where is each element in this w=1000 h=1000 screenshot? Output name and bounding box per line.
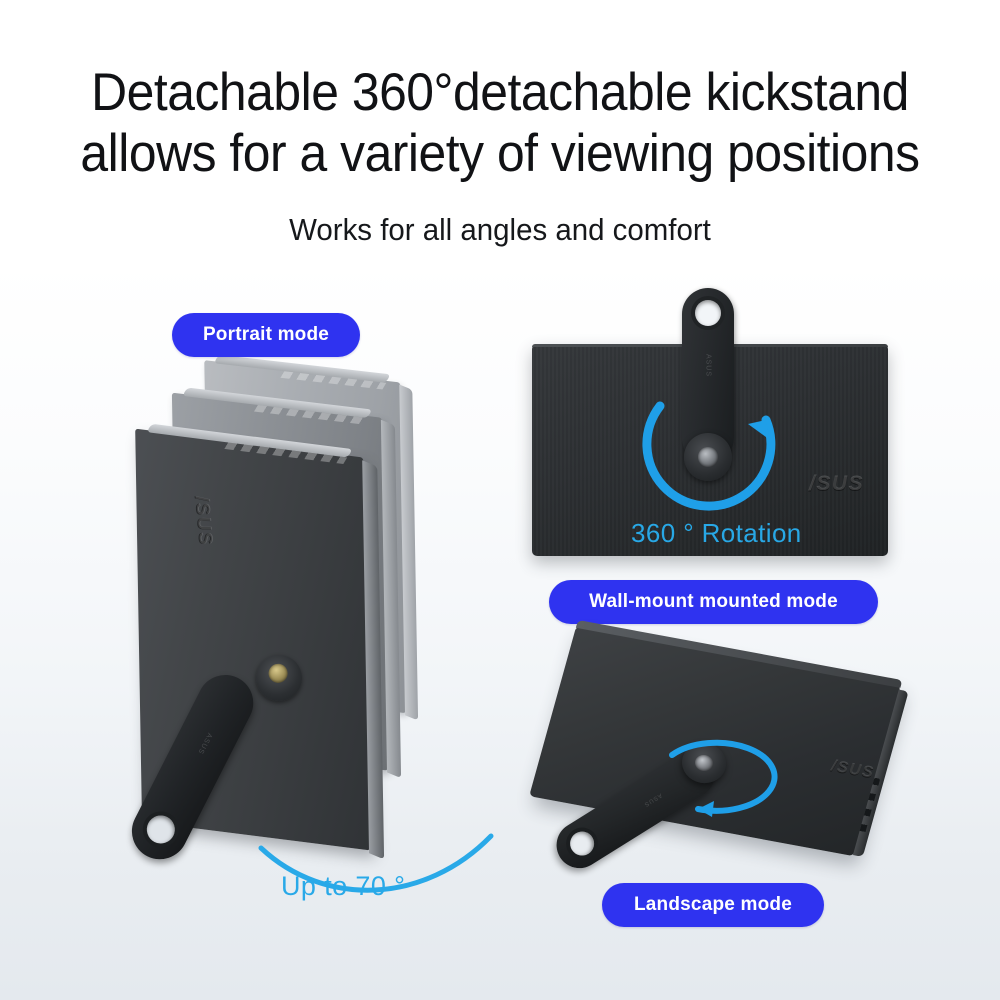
promo-image-canvas: Detachable 360°detachable kickstand allo… [0,0,1000,1000]
panel-side-edge [399,385,418,721]
kickstand-hole-icon [566,827,599,860]
portrait-mode-illustration: /SUS ASUS [60,360,490,900]
landscape-mode-illustration: /SUS ASUS [540,645,920,895]
asus-logo-icon: /SUS [809,472,864,496]
headline-line-2: allows for a variety of viewing position… [30,123,970,184]
kickstand-pivot-hub [684,433,732,481]
kickstand-hole-icon [695,300,721,326]
kickstand-arm-label: ASUS [631,785,673,814]
kickstand-arm-label: ASUS [705,340,712,392]
page-title: Detachable 360°detachable kickstand allo… [30,62,970,184]
badge-wall-mount-mode[interactable]: Wall-mount mounted mode [549,580,878,624]
panel-top-edge [576,620,903,688]
asus-logo-icon: /SUS [190,494,216,548]
page-subtitle: Works for all angles and comfort [25,211,975,249]
badge-portrait-mode[interactable]: Portrait mode [172,313,360,357]
badge-landscape-mode[interactable]: Landscape mode [602,883,824,927]
annotation-tilt-angle: Up to 70 ° [281,871,405,902]
kickstand-arm-label: ASUS [189,717,221,770]
pivot-screw-icon [694,754,715,773]
pivot-screw-icon [267,663,288,684]
pivot-screw-icon [698,447,718,467]
annotation-rotation: 360 ° Rotation [631,518,802,549]
kickstand-hole-icon [142,811,180,849]
headline-line-1: Detachable 360°detachable kickstand [30,62,970,123]
